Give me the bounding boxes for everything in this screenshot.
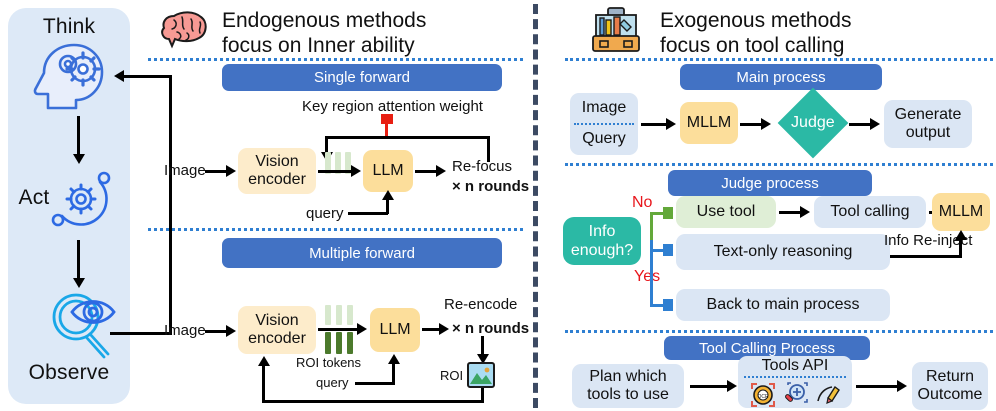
- mf-llm-label: LLM: [379, 321, 410, 339]
- banner-judge-process[interactable]: Judge process: [668, 170, 872, 196]
- main-input-box[interactable]: Image Query: [570, 93, 638, 155]
- main-arrow-mllm-to-judge-head: [761, 118, 771, 130]
- red-attention-arrow-head: [381, 114, 393, 124]
- judge-decision-line2: enough?: [571, 241, 633, 260]
- judge-tool-calling-box[interactable]: Tool calling: [814, 196, 926, 228]
- separator-right-mid1: [565, 163, 993, 166]
- arrow-think-to-act-head: [73, 154, 85, 164]
- judge-reinject-line-v: [959, 238, 962, 257]
- judge-decision-box[interactable]: Info enough?: [563, 217, 641, 265]
- ocr-icon[interactable]: OCR: [750, 382, 776, 408]
- mf-token-light-2: [336, 305, 342, 325]
- judge-arrow-usetool-to-toolcalling: [779, 211, 801, 214]
- main-arrow-judge-to-output-head: [870, 118, 880, 130]
- mf-arrow-encoder-to-llm-head: [357, 323, 367, 335]
- tcp-plan-box[interactable]: Plan which tools to use: [572, 364, 684, 408]
- mf-token-dark-2: [336, 332, 342, 354]
- mf-query-head: [388, 354, 400, 364]
- separator-right-top: [565, 58, 993, 61]
- mf-token-dark-1: [325, 332, 331, 354]
- main-input-image: Image: [570, 93, 638, 123]
- judge-label-no: No: [632, 194, 652, 212]
- mf-feedback-h: [262, 400, 484, 403]
- gear-orbit-icon: [48, 166, 114, 232]
- sf-query-line-v: [386, 198, 389, 214]
- judge-decision-line1: Info: [589, 222, 616, 241]
- main-output-line1: Generate: [895, 106, 962, 124]
- sf-output-line2: × n rounds: [452, 178, 529, 195]
- mf-vision-encoder-line2: encoder: [248, 330, 306, 348]
- judge-mllm-box[interactable]: MLLM: [932, 193, 990, 231]
- mf-token-light-3: [347, 305, 353, 325]
- tao-node-label-observe: Observe: [8, 360, 130, 386]
- mf-query-label: query: [316, 375, 349, 390]
- main-arrow-input-to-mllm-head: [666, 118, 676, 130]
- banner-multiple-forward[interactable]: Multiple forward: [222, 238, 502, 268]
- main-arrow-mllm-to-judge: [740, 123, 762, 126]
- mf-output-line1: Re-encode: [444, 296, 517, 313]
- mf-query-line-h: [355, 382, 395, 385]
- mf-arrow-encoder-to-llm: [318, 328, 358, 331]
- caption-key-region-attention-weight: Key region attention weight: [302, 98, 532, 115]
- magnifier-eye-icon: [44, 288, 120, 360]
- judge-branch-no-head: [663, 207, 673, 219]
- sf-vision-encoder-line1: Vision: [255, 153, 298, 171]
- mf-token-dark-3: [347, 332, 353, 354]
- arrow-observe-to-think-v: [169, 75, 172, 335]
- banner-single-forward[interactable]: Single forward: [222, 64, 502, 91]
- mf-arrow-image-to-encoder-head: [226, 325, 236, 337]
- mf-llm-box[interactable]: LLM: [370, 308, 420, 352]
- sf-vision-encoder-box[interactable]: Vision encoder: [238, 148, 316, 194]
- tcp-return-line1: Return: [926, 368, 974, 386]
- red-attention-arrow-line: [385, 122, 388, 136]
- sf-feedback-h: [325, 136, 490, 139]
- judge-branch-text-head: [663, 244, 673, 256]
- arrow-act-to-observe: [77, 240, 80, 280]
- middle-panel-title-line1: Endogenous methods: [222, 8, 522, 33]
- sf-query-head: [382, 190, 394, 200]
- sf-arrow-llm-to-out-head: [436, 165, 446, 177]
- sf-arrow-encoder-to-llm: [318, 170, 352, 173]
- sf-arrow-image-to-encoder-head: [226, 165, 236, 177]
- tcp-arrow-plan-to-tools: [690, 385, 728, 388]
- arrow-act-to-observe-head: [73, 278, 85, 288]
- middle-panel-title-line2: focus on Inner ability: [222, 33, 522, 58]
- main-judge-diamond[interactable]: Judge: [778, 88, 849, 159]
- mf-arrow-llm-to-out-head: [439, 323, 449, 335]
- judge-branch-back-h: [650, 304, 664, 307]
- tcp-plan-line2: tools to use: [587, 386, 669, 404]
- tcp-arrow-tools-to-return-head: [897, 380, 907, 392]
- judge-mllm-label: MLLM: [939, 203, 983, 221]
- tcp-return-box[interactable]: Return Outcome: [912, 362, 988, 410]
- judge-text-only-box[interactable]: Text-only reasoning: [676, 234, 890, 270]
- sf-input-label: Image: [164, 162, 206, 179]
- judge-arrow-usetool-to-toolcalling-head: [800, 206, 810, 218]
- sf-query-label: query: [306, 205, 344, 222]
- right-panel-title-line2: focus on tool calling: [660, 33, 990, 58]
- mf-roi-label: ROI: [440, 368, 463, 383]
- mf-feedback-v-left: [262, 364, 265, 402]
- sf-query-line-h: [348, 212, 388, 215]
- main-output-line2: output: [906, 124, 950, 142]
- main-output-box[interactable]: Generate output: [884, 100, 972, 148]
- mf-roi-tokens-label: ROI tokens: [296, 355, 361, 370]
- mf-arrow-llm-to-out: [422, 328, 440, 331]
- judge-use-tool-box[interactable]: Use tool: [676, 196, 776, 228]
- zoom-magnifier-icon[interactable]: [782, 382, 808, 408]
- sf-arrow-image-to-encoder: [205, 170, 227, 173]
- tao-node-label-think: Think: [8, 14, 130, 40]
- judge-use-tool-label: Use tool: [697, 203, 756, 221]
- arrow-think-to-act: [77, 116, 80, 156]
- toolbox-icon: [590, 6, 642, 54]
- main-mllm-box[interactable]: MLLM: [680, 102, 738, 144]
- tcp-arrow-tools-to-return: [856, 385, 898, 388]
- tcp-tools-api-box[interactable]: Tools API OCR: [738, 356, 852, 408]
- mf-input-label: Image: [164, 322, 206, 339]
- judge-branch-text-h: [650, 249, 664, 252]
- tcp-return-line2: Outcome: [918, 386, 983, 404]
- judge-text-only-label: Text-only reasoning: [714, 243, 853, 261]
- tcp-arrow-plan-to-tools-head: [727, 380, 737, 392]
- panel-divider: [533, 4, 538, 408]
- judge-back-to-main-label: Back to main process: [707, 296, 860, 314]
- main-arrow-judge-to-output: [849, 123, 871, 126]
- main-arrow-input-to-mllm: [641, 123, 667, 126]
- judge-branch-no-h: [650, 212, 664, 215]
- tcp-plan-line1: Plan which: [589, 368, 666, 386]
- brain-icon: [160, 8, 210, 52]
- sf-arrow-encoder-to-llm-head: [351, 165, 361, 177]
- mf-vision-encoder-box[interactable]: Vision encoder: [238, 306, 316, 354]
- separator-middle-top: [148, 58, 523, 61]
- sf-arrow-llm-to-out: [415, 170, 437, 173]
- main-mllm-label: MLLM: [687, 114, 731, 132]
- mf-arrow-image-to-encoder: [205, 330, 227, 333]
- mf-vision-encoder-line1: Vision: [255, 312, 298, 330]
- tcp-tools-api-label: Tools API: [738, 356, 852, 376]
- svg-text:OCR: OCR: [757, 394, 769, 400]
- arrow-observe-to-think-h1: [110, 332, 172, 335]
- judge-branch-no-v: [650, 213, 653, 241]
- draw-pencil-icon[interactable]: [814, 382, 840, 408]
- judge-branch-back-head: [663, 299, 673, 311]
- sf-vision-encoder-line2: encoder: [248, 171, 306, 189]
- separator-right-mid2: [565, 330, 993, 333]
- judge-reinject-line-h: [890, 255, 962, 258]
- right-panel-title-line1: Exogenous methods: [660, 8, 990, 33]
- main-input-query: Query: [570, 125, 638, 153]
- mf-output-line2: × n rounds: [452, 320, 529, 337]
- arrow-observe-to-think-head: [114, 70, 124, 82]
- head-gears-icon: [28, 40, 112, 110]
- judge-tool-calling-label: Tool calling: [830, 203, 909, 221]
- mf-feedback-head: [258, 356, 270, 366]
- separator-middle-mid: [148, 228, 523, 231]
- mf-token-light-1: [325, 305, 331, 325]
- sf-output-line1: Re-focus: [452, 158, 512, 175]
- judge-back-to-main-box[interactable]: Back to main process: [676, 289, 890, 321]
- judge-label-yes: Yes: [634, 268, 660, 286]
- sf-llm-box[interactable]: LLM: [363, 150, 413, 192]
- banner-main-process[interactable]: Main process: [680, 64, 882, 90]
- judge-reinject-head: [955, 230, 967, 240]
- main-judge-label: Judge: [791, 114, 835, 132]
- sf-llm-label: LLM: [372, 162, 403, 180]
- mf-query-line-v: [392, 362, 395, 384]
- arrow-observe-to-think-h2: [124, 75, 172, 78]
- mf-roi-down-line: [481, 336, 484, 356]
- image-thumbnail-icon: [467, 362, 495, 388]
